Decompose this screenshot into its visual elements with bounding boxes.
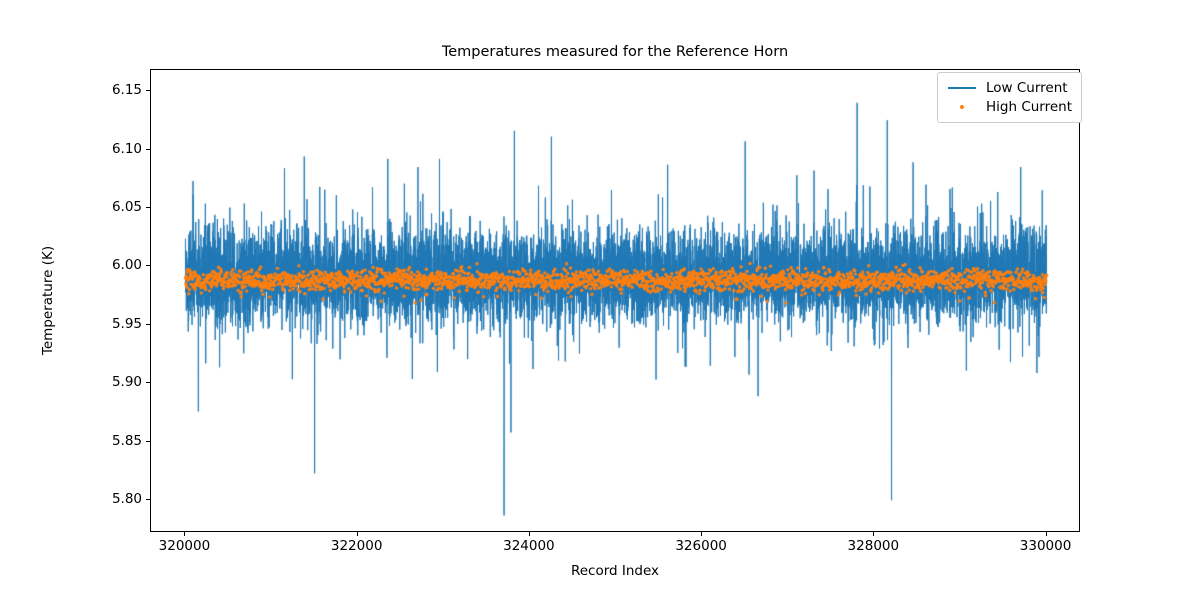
y-tick-label: 5.95 — [112, 316, 142, 332]
legend-line-icon — [947, 87, 977, 89]
x-axis-tick-labels: 320000322000324000326000328000330000 — [150, 538, 1080, 560]
y-tick-mark — [146, 499, 150, 500]
x-tick-label: 322000 — [331, 538, 383, 554]
y-tick-mark — [146, 382, 150, 383]
x-tick-label: 330000 — [1020, 538, 1072, 554]
y-tick-label: 6.05 — [112, 199, 142, 215]
legend-item-high-current[interactable]: High Current — [947, 97, 1072, 116]
matplotlib-figure: Temperatures measured for the Reference … — [0, 0, 1200, 600]
y-tick-mark — [146, 324, 150, 325]
legend-item-low-current[interactable]: Low Current — [947, 78, 1072, 97]
y-axis-tick-labels: 5.805.855.905.956.006.056.106.15 — [80, 69, 142, 532]
series-canvas — [151, 70, 1080, 532]
x-tick-mark — [1046, 532, 1047, 536]
x-tick-mark — [357, 532, 358, 536]
x-tick-label: 324000 — [503, 538, 555, 554]
y-tick-label: 5.80 — [112, 491, 142, 507]
chart-title: Temperatures measured for the Reference … — [150, 44, 1080, 60]
x-tick-label: 320000 — [159, 538, 211, 554]
y-tick-label: 5.85 — [112, 433, 142, 449]
y-tick-mark — [146, 90, 150, 91]
legend-label: High Current — [986, 99, 1072, 115]
y-tick-label: 6.00 — [112, 257, 142, 273]
legend-label: Low Current — [986, 80, 1068, 96]
x-tick-mark — [873, 532, 874, 536]
x-axis-label: Record Index — [150, 563, 1080, 579]
y-tick-label: 6.10 — [112, 141, 142, 157]
x-tick-label: 326000 — [675, 538, 727, 554]
chart-legend: Low Current High Current — [937, 72, 1082, 123]
y-tick-mark — [146, 149, 150, 150]
y-tick-label: 5.90 — [112, 374, 142, 390]
x-tick-mark — [529, 532, 530, 536]
y-axis-label: Temperature (K) — [40, 69, 56, 532]
x-tick-mark — [184, 532, 185, 536]
y-tick-mark — [146, 441, 150, 442]
y-tick-mark — [146, 207, 150, 208]
y-tick-label: 6.15 — [112, 82, 142, 98]
y-tick-mark — [146, 265, 150, 266]
plot-area — [150, 69, 1080, 532]
x-tick-mark — [701, 532, 702, 536]
x-tick-label: 328000 — [848, 538, 900, 554]
legend-dot-icon — [947, 105, 977, 109]
